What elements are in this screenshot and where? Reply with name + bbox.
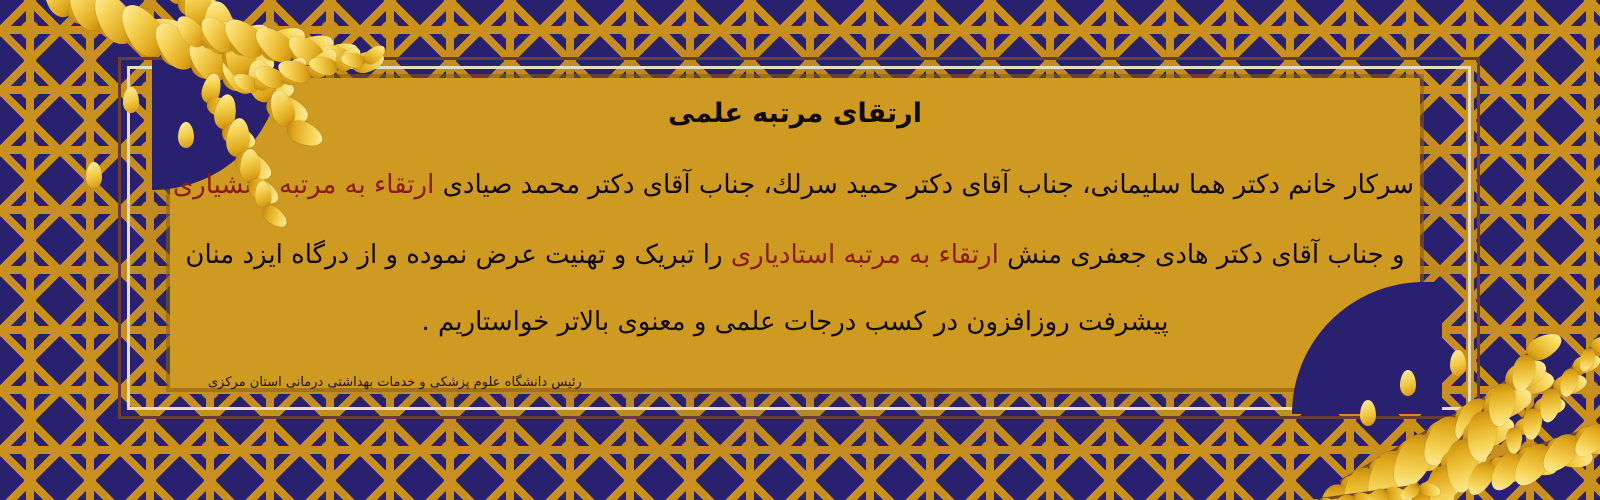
body-line-1-seg-0: سرکار خانم دکتر هما سلیمانی، جناب آقای د… — [434, 170, 1414, 200]
page-title: ارتقای مرتبه علمی — [176, 98, 1414, 130]
signature-line: رئیس دانشگاه علوم پزشکی و خدمات بهداشتی … — [188, 375, 1426, 390]
body-line-2-seg-1-accent: ارتقاء به مرتبه استادیاری — [731, 240, 999, 270]
body-line-2-seg-2: را تبریک و تهنیت عرض نموده و از درگاه ای… — [185, 240, 730, 270]
congratulation-banner: ارتقای مرتبه علمی سرکار خانم دکتر هما سل… — [0, 0, 1600, 500]
body-line-2-seg-0: و جناب آقای دکتر هادی جعفری منش — [999, 240, 1405, 270]
content-area: ارتقای مرتبه علمی سرکار خانم دکتر هما سل… — [176, 80, 1414, 386]
body-line-1: سرکار خانم دکتر هما سلیمانی، جناب آقای د… — [176, 170, 1414, 201]
body-line-3: پیشرفت روزافزون در کسب درجات علمی و معنو… — [176, 307, 1414, 338]
signature-text: رئیس دانشگاه علوم پزشکی و خدمات بهداشتی … — [208, 375, 582, 390]
body-line-1-seg-1-accent: ارتقاء به مرتبه دانشیاری — [173, 170, 435, 200]
body-line-2: و جناب آقای دکتر هادی جعفری منش ارتقاء ب… — [176, 240, 1414, 271]
body-line-3-seg-0: پیشرفت روزافزون در کسب درجات علمی و معنو… — [421, 307, 1168, 337]
